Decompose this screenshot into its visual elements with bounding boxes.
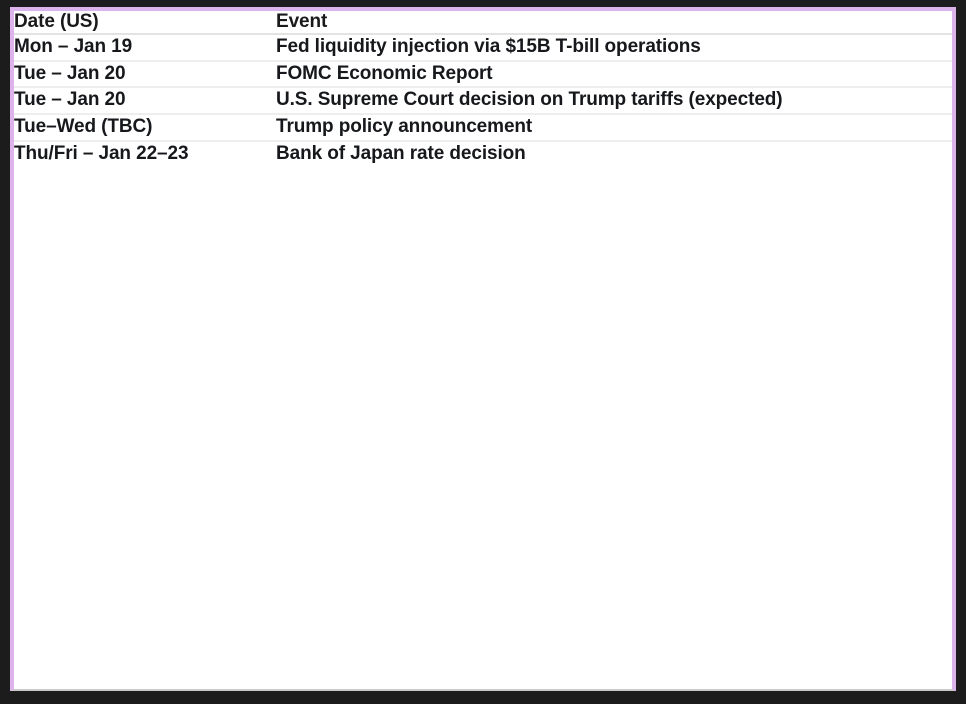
table-row: Tue – Jan 20 FOMC Economic Report bbox=[14, 61, 952, 88]
cell-date: Tue–Wed (TBC) bbox=[14, 114, 276, 141]
cell-event: U.S. Supreme Court decision on Trump tar… bbox=[276, 87, 952, 114]
column-header-date: Date (US) bbox=[14, 11, 276, 34]
table-header-row: Date (US) Event bbox=[14, 11, 952, 34]
table-card: Date (US) Event Mon – Jan 19 Fed liquidi… bbox=[14, 11, 952, 689]
cell-date: Thu/Fri – Jan 22–23 bbox=[14, 141, 276, 167]
cell-event: Trump policy announcement bbox=[276, 114, 952, 141]
table-row: Mon – Jan 19 Fed liquidity injection via… bbox=[14, 34, 952, 61]
table-header: Date (US) Event bbox=[14, 11, 952, 34]
table-row: Tue–Wed (TBC) Trump policy announcement bbox=[14, 114, 952, 141]
cell-date: Tue – Jan 20 bbox=[14, 87, 276, 114]
cell-event: FOMC Economic Report bbox=[276, 61, 952, 88]
cell-event: Bank of Japan rate decision bbox=[276, 141, 952, 167]
column-header-event: Event bbox=[276, 11, 952, 34]
table-row: Tue – Jan 20 U.S. Supreme Court decision… bbox=[14, 87, 952, 114]
table-body: Mon – Jan 19 Fed liquidity injection via… bbox=[14, 34, 952, 166]
table-row: Thu/Fri – Jan 22–23 Bank of Japan rate d… bbox=[14, 141, 952, 167]
page-frame: Date (US) Event Mon – Jan 19 Fed liquidi… bbox=[0, 0, 966, 704]
cell-date: Tue – Jan 20 bbox=[14, 61, 276, 88]
table-card-border: Date (US) Event Mon – Jan 19 Fed liquidi… bbox=[10, 7, 956, 691]
cell-event: Fed liquidity injection via $15B T-bill … bbox=[276, 34, 952, 61]
cell-date: Mon – Jan 19 bbox=[14, 34, 276, 61]
events-table: Date (US) Event Mon – Jan 19 Fed liquidi… bbox=[14, 11, 952, 166]
